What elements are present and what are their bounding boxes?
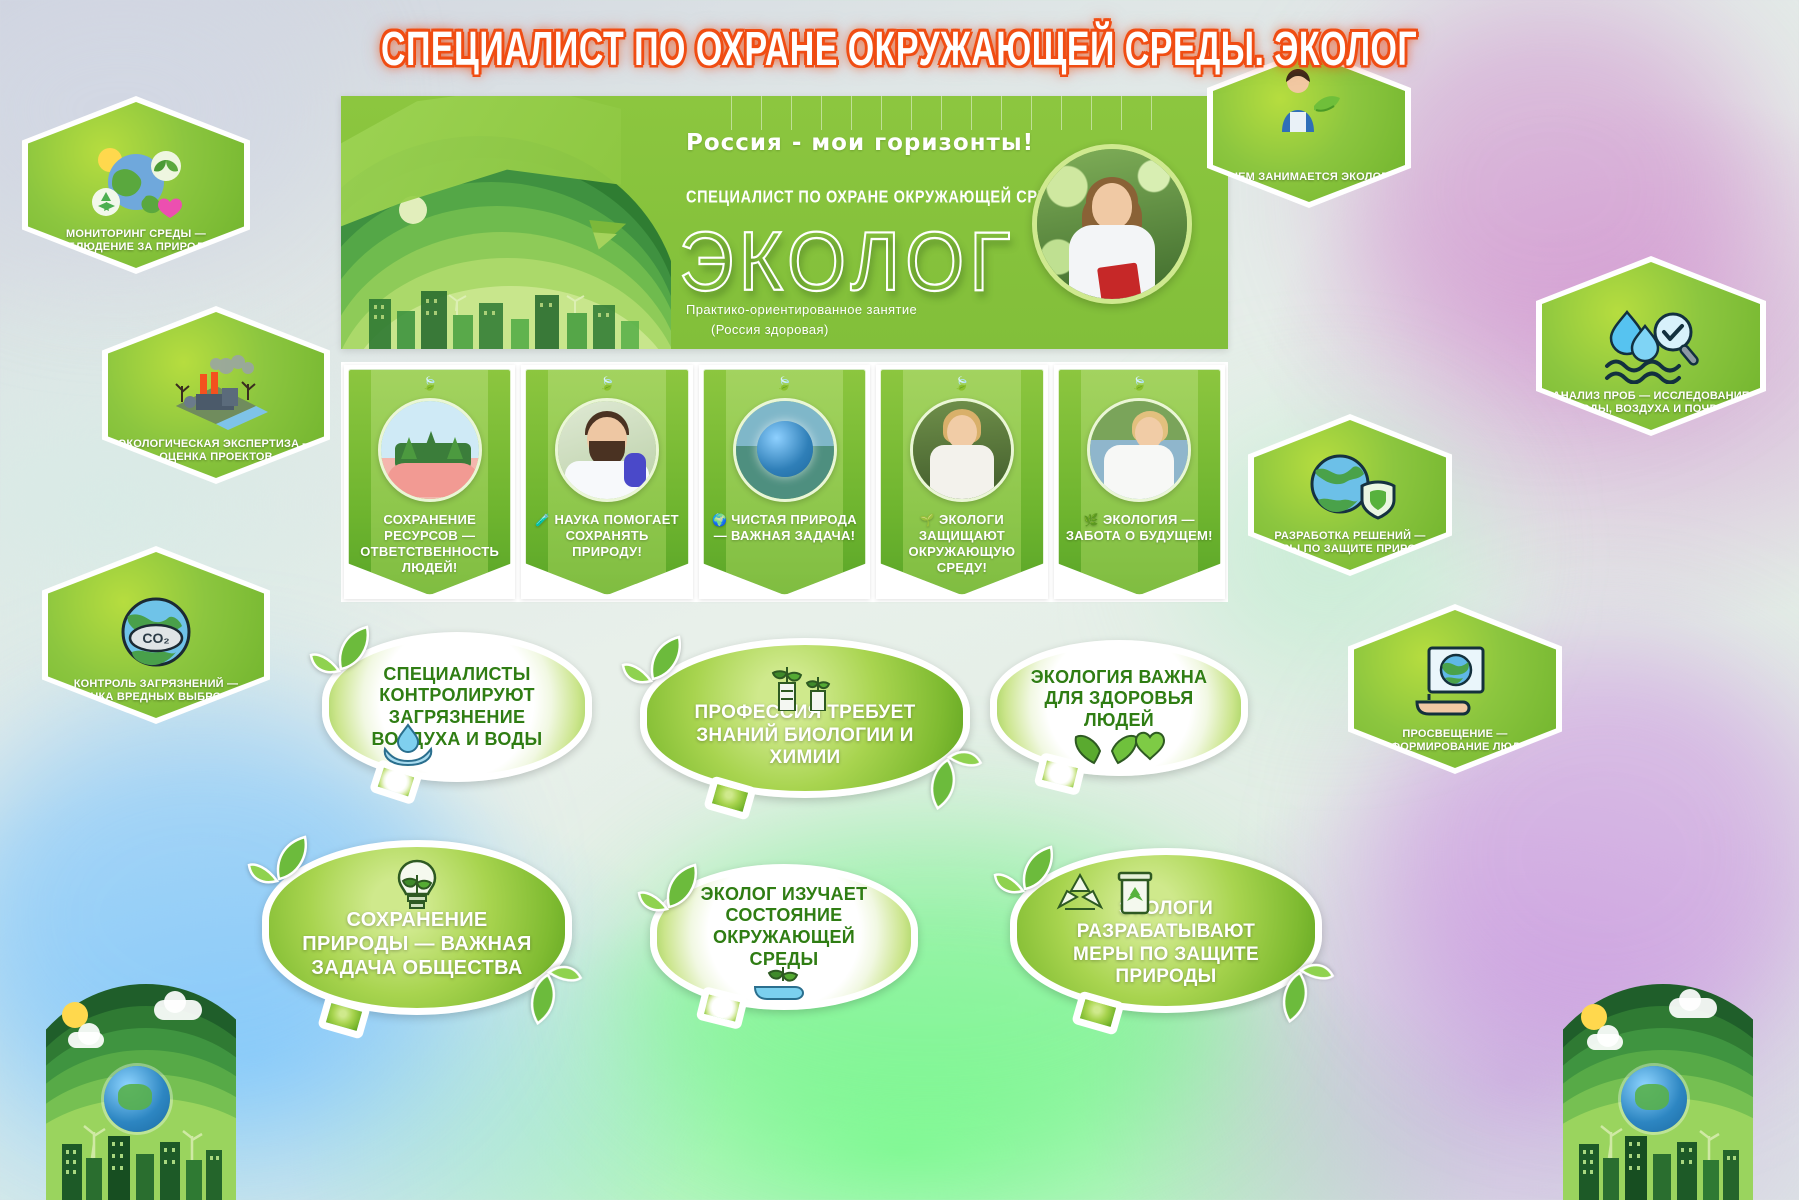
speech-bubble-3[interactable]: ЭКОЛОГИЯ ВАЖНА ДЛЯ ЗДОРОВЬЯ ЛЮДЕЙ <box>990 640 1248 776</box>
co2-globe-icon: CO₂ <box>110 594 202 672</box>
card-label: 🧪 НАУКА ПОМОГАЕТ СОХРАНЯТЬ ПРИРОДУ! <box>526 512 687 560</box>
banner-subtitle-2: (Россия здоровая) <box>711 322 829 337</box>
card-text: СОХРАНЕНИЕ РЕСУРСОВ — ОТВЕТСТВЕННОСТЬ ЛЮ… <box>360 512 499 575</box>
recycle-icon <box>1051 871 1109 917</box>
card-emoji: 🌿 <box>1084 513 1099 527</box>
card-row: 🍃 СОХРАНЕНИЕ РЕСУРСОВ — ОТВЕТСТВЕННОСТЬ … <box>341 362 1228 602</box>
card-item[interactable]: 🍃 🧪 НАУКА ПОМОГАЕТ СОХРАНЯТЬ ПРИРОДУ! <box>521 365 692 599</box>
card-label: 🌿 ЭКОЛОГИЯ — ЗАБОТА О БУДУЩЕМ! <box>1059 512 1220 544</box>
card-text: НАУКА ПОМОГАЕТ СОХРАНЯТЬ ПРИРОДУ! <box>554 512 678 559</box>
water-drop-magnifier-icon <box>1593 308 1709 384</box>
svg-text:CO₂: CO₂ <box>142 630 169 646</box>
hexagon-label: ЭКОЛОГИЧЕСКАЯ ЭКСПЕРТИЗА — ОЦЕНКА ПРОЕКТ… <box>118 438 314 464</box>
hexagon-label: МОНИТОРИНГ СРЕДЫ — НАБЛЮДЕНИЕ ЗА ПРИРОДО… <box>38 228 234 254</box>
card-photo <box>733 398 837 502</box>
card-photo <box>910 398 1014 502</box>
lightbulb-sprout-icon <box>389 857 445 911</box>
speech-bubble-4[interactable]: СОХРАНЕНИЕ ПРИРОДЫ — ВАЖНАЯ ЗАДАЧА ОБЩЕС… <box>262 840 572 1015</box>
banner-subtitle-1: Практико-ориентированное занятие <box>686 302 917 317</box>
card-photo <box>1087 398 1191 502</box>
globe-shield-icon <box>1298 452 1402 524</box>
card-item[interactable]: 🍃 🌱 ЭКОЛОГИ ЗАЩИЩАЮТ ОКРУЖАЮЩУЮ СРЕДУ! <box>876 365 1047 599</box>
city-skyline-icon <box>361 275 661 349</box>
speech-bubble-1[interactable]: СПЕЦИАЛИСТЫ КОНТРОЛИРУЮТ ЗАГРЯЗНЕНИЕ ВОЗ… <box>322 632 592 782</box>
card-emoji: 🧪 <box>535 513 550 527</box>
papercut-eco-city-left <box>46 970 236 1200</box>
leaf-hearts-icon <box>1064 725 1174 767</box>
hexagon-label: АНАЛИЗ ПРОБ — ИССЛЕДОВАНИЕ ВОДЫ, ВОЗДУХА… <box>1552 390 1750 416</box>
hands-water-drop-icon <box>381 723 435 767</box>
hexagon-label: КОНТРОЛЬ ЗАГРЯЗНЕНИЙ — ОЦЕНКА ВРЕДНЫХ ВЫ… <box>58 678 254 704</box>
leaf-icon: 🍃 <box>954 376 970 392</box>
poster-title-container: СПЕЦИАЛИСТ ПО ОХРАНЕ ОКРУЖАЮЩЕЙ СРЕДЫ. Э… <box>0 22 1799 62</box>
globe-icon <box>104 1066 170 1132</box>
card-photo <box>378 398 482 502</box>
leaf-icon: 🍃 <box>599 376 615 392</box>
card-label: 🌱 ЭКОЛОГИ ЗАЩИЩАЮТ ОКРУЖАЮЩУЮ СРЕДУ! <box>881 512 1042 575</box>
ecologist-photo <box>1032 144 1192 304</box>
card-photo <box>555 398 659 502</box>
earth-recycle-leaf-icon <box>84 144 188 222</box>
card-label: 🌍 ЧИСТАЯ ПРИРОДА — ВАЖНАЯ ЗАДАЧА! <box>704 512 865 544</box>
hand-presenting-earth-icon <box>1407 644 1503 722</box>
factory-sprouts-icon <box>759 659 851 711</box>
polluting-factory-icon <box>156 352 276 432</box>
cloud-icon <box>68 1032 104 1048</box>
cloud-icon <box>154 1000 202 1020</box>
page-title: СПЕЦИАЛИСТ ПО ОХРАНЕ ОКРУЖАЮЩЕЙ СРЕДЫ. Э… <box>381 22 1417 77</box>
card-item[interactable]: 🍃 СОХРАНЕНИЕ РЕСУРСОВ — ОТВЕТСТВЕННОСТЬ … <box>344 365 515 599</box>
cloud-icon <box>1669 998 1717 1018</box>
hanging-strings-decor <box>721 96 1161 134</box>
papercut-eco-city-right <box>1563 970 1753 1200</box>
hand-plant-icon <box>747 961 821 1001</box>
speech-bubble-5[interactable]: ЭКОЛОГ ИЗУЧАЕТ СОСТОЯНИЕ ОКРУЖАЮЩЕЙ СРЕД… <box>650 864 918 1010</box>
card-text: ЧИСТАЯ ПРИРОДА — ВАЖНАЯ ЗАДАЧА! <box>714 512 857 543</box>
speech-bubble-6[interactable]: ЭКОЛОГИ РАЗРАБАТЫВАЮТ МЕРЫ ПО ЗАЩИТЕ ПРИ… <box>1010 848 1322 1013</box>
leaf-icon: 🍃 <box>776 376 792 392</box>
recycle-bin-icon <box>1113 867 1157 917</box>
leaf-icon: 🍃 <box>422 376 438 392</box>
speech-bubble-2[interactable]: ПРОФЕССИЯ ТРЕБУЕТ ЗНАНИЙ БИОЛОГИИ И ХИМИ… <box>640 638 970 798</box>
card-label: СОХРАНЕНИЕ РЕСУРСОВ — ОТВЕТСТВЕННОСТЬ ЛЮ… <box>349 512 510 575</box>
leaf-icon: 🍃 <box>1131 376 1147 392</box>
cloud-icon <box>1587 1034 1623 1050</box>
hexagon-label: ПРОСВЕЩЕНИЕ — ИНФОРМИРОВАНИЕ ЛЮДЕЙ <box>1364 728 1546 754</box>
main-banner: Россия - мои горизонты! СПЕЦИАЛИСТ ПО ОХ… <box>341 96 1228 349</box>
banner-headline: ЭКОЛОГ <box>679 214 1015 310</box>
globe-icon <box>1621 1066 1687 1132</box>
card-item[interactable]: 🍃 🌿 ЭКОЛОГИЯ — ЗАБОТА О БУДУЩЕМ! <box>1054 365 1225 599</box>
card-emoji: 🌍 <box>712 513 727 527</box>
card-emoji: 🌱 <box>920 513 935 527</box>
card-item[interactable]: 🍃 🌍 ЧИСТАЯ ПРИРОДА — ВАЖНАЯ ЗАДАЧА! <box>699 365 870 599</box>
